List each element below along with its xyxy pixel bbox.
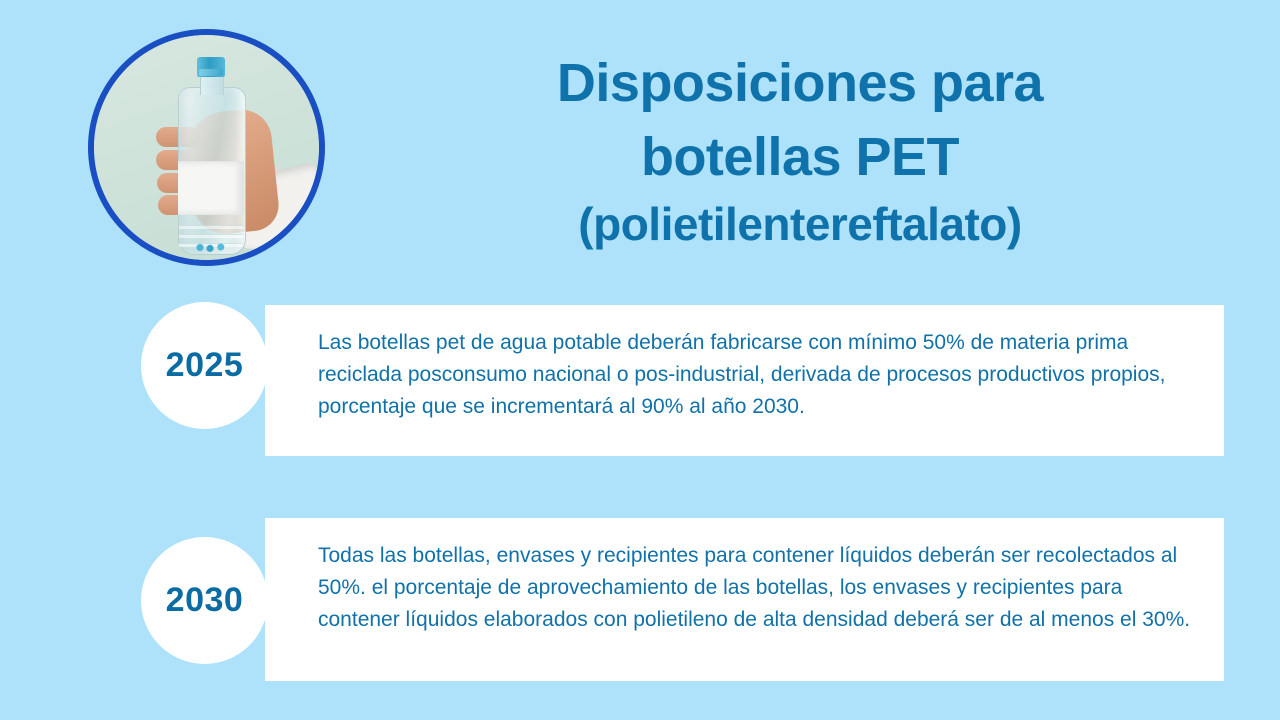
title-line-3: (polietilentereftalato) (360, 194, 1240, 254)
year-badge-2025: 2025 (141, 302, 268, 429)
bottle-ridge (179, 225, 243, 229)
infographic-slide: Disposiciones para botellas PET (polieti… (0, 0, 1280, 720)
photo-inner (94, 35, 319, 260)
pet-bottle-icon (178, 57, 244, 253)
bottle-ridge (179, 234, 243, 238)
timeline-card: Las botellas pet de agua potable deberán… (265, 305, 1224, 456)
bottle-label (178, 161, 244, 215)
timeline-card: Todas las botellas, envases y recipiente… (265, 518, 1224, 681)
timeline-card-text: Todas las botellas, envases y recipiente… (318, 540, 1194, 636)
bottle-bottom-detail (192, 243, 232, 252)
page-title: Disposiciones para botellas PET (polieti… (360, 46, 1240, 254)
title-line-2: botellas PET (360, 120, 1240, 194)
year-badge-2030: 2030 (141, 537, 268, 664)
timeline-card-text: Las botellas pet de agua potable deberán… (318, 327, 1194, 423)
bottle-cap (197, 57, 225, 77)
bottle-photo-circle (88, 29, 325, 266)
title-line-1: Disposiciones para (360, 46, 1240, 120)
